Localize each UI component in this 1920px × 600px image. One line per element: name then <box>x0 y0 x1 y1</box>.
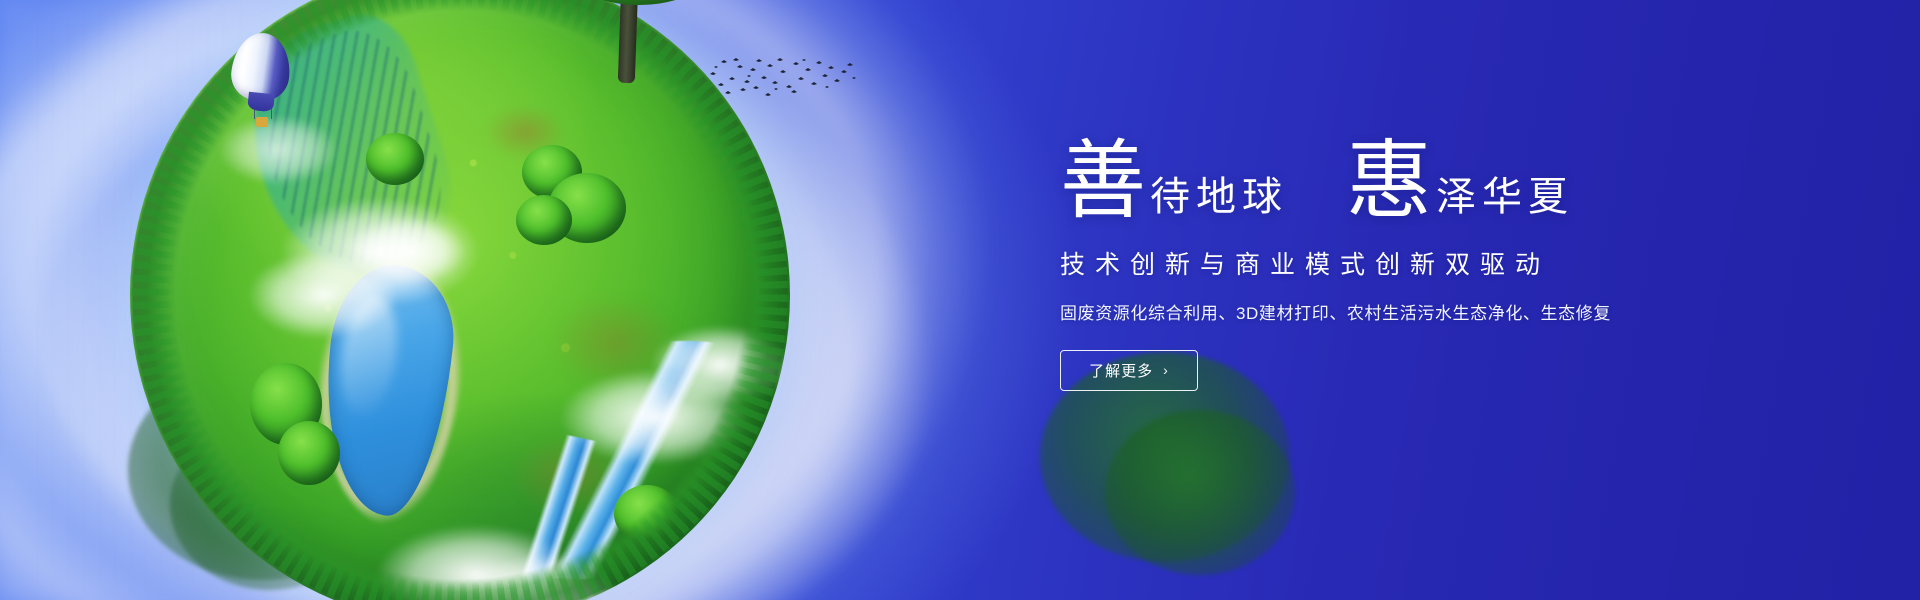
planet-cloud <box>460 555 620 600</box>
hot-air-balloon-icon <box>232 33 298 133</box>
planet-rim-forest <box>130 0 790 600</box>
planet-cloud <box>650 325 790 405</box>
page-title: 善 待地球 惠 泽华夏 <box>1060 140 1760 223</box>
subtitle: 技术创新与商业模式创新双驱动 <box>1060 245 1760 281</box>
headline-char-1: 善 <box>1060 140 1146 223</box>
tiny-planet-illustration <box>130 0 790 600</box>
earth-patch <box>550 295 680 390</box>
hero-content: 善 待地球 惠 泽华夏 技术创新与商业模式创新双驱动 固废资源化综合利用、3D建… <box>1060 140 1760 391</box>
bush-cluster <box>548 173 626 243</box>
planet-globe <box>130 0 790 600</box>
headline-phrase-2: 泽华夏 <box>1436 177 1574 217</box>
balloon-basket <box>256 117 268 127</box>
planet-cloud <box>346 217 466 285</box>
chevron-right-icon: › <box>1163 363 1169 377</box>
earth-patch <box>485 105 565 159</box>
bush-cluster <box>278 421 340 485</box>
bird-flock-icon <box>706 52 856 104</box>
lake-shape <box>313 259 460 520</box>
planet-cloud <box>280 197 480 307</box>
headline-char-2: 惠 <box>1346 140 1432 223</box>
background-tree-right-2 <box>1105 410 1295 575</box>
bush-cluster <box>366 133 424 185</box>
learn-more-label: 了解更多 <box>1089 360 1153 381</box>
planet-cloud <box>248 251 398 339</box>
bush-cluster <box>516 195 572 245</box>
planet-cloud <box>560 369 750 465</box>
headline-phrase-1: 待地球 <box>1150 177 1288 217</box>
tagline: 固废资源化综合利用、3D建材打印、农村生活污水生态净化、生态修复 <box>1060 299 1760 324</box>
lake-highlight <box>334 292 404 418</box>
earth-patch <box>510 435 630 515</box>
bush-cluster <box>522 145 582 199</box>
planet-cloud <box>376 525 576 600</box>
bush-cluster <box>614 485 680 543</box>
planet-rim-treeline <box>130 0 790 600</box>
hero-banner: 善 待地球 惠 泽华夏 技术创新与商业模式创新双驱动 固废资源化综合利用、3D建… <box>0 0 1920 600</box>
learn-more-button[interactable]: 了解更多 › <box>1060 350 1198 391</box>
bush-cluster <box>250 363 322 445</box>
grass-texture <box>130 0 790 600</box>
lake-shoreline <box>302 250 475 532</box>
